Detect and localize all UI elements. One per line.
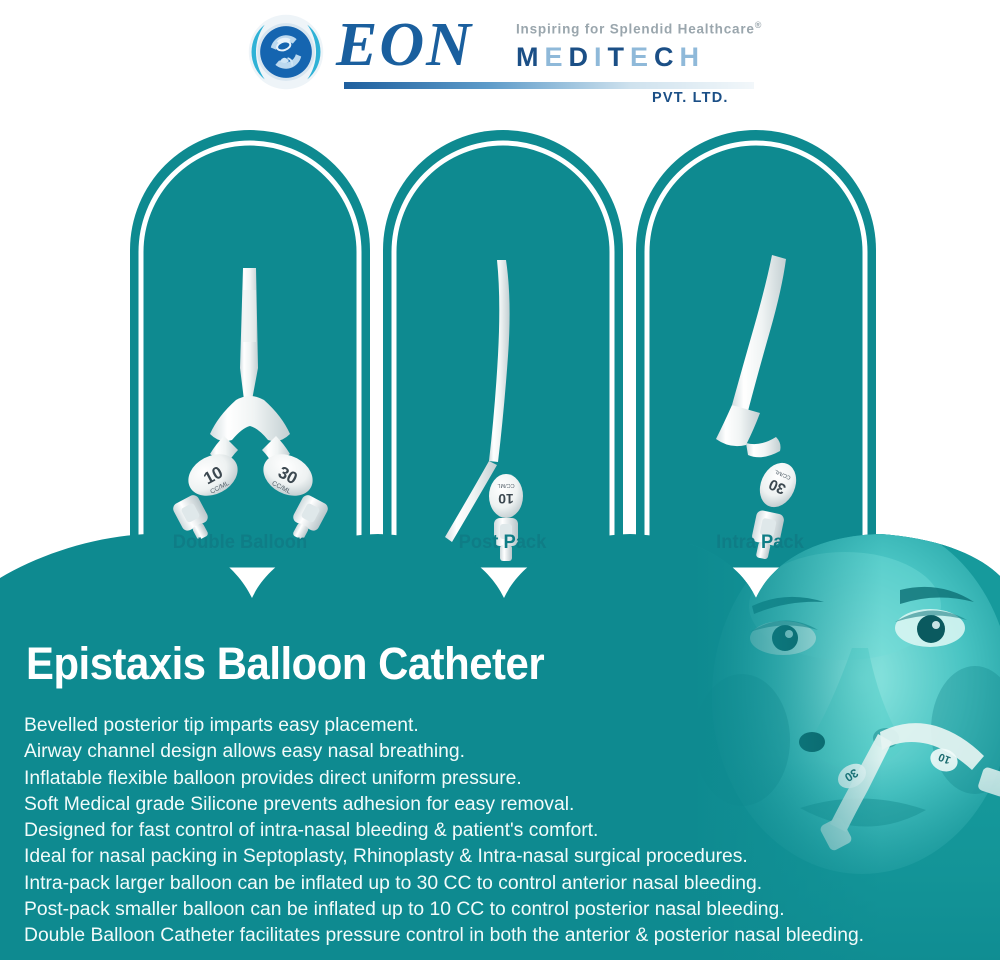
feature-item: Designed for fast control of intra-nasal… (24, 817, 960, 843)
registered-trademark-icon: ® (755, 20, 762, 30)
feature-item: Bevelled posterior tip imparts easy plac… (24, 712, 960, 738)
feature-item: Double Balloon Catheter facilitates pres… (24, 922, 960, 948)
brand-name-text: EON (336, 11, 473, 79)
product-panel-intra-pack: 30 CC/ML (636, 130, 876, 570)
brand-tagline-text: Inspiring for Splendid Healthcare (516, 22, 755, 37)
logo-lockup: EON Inspiring for Splendid Healthcare® M… (248, 6, 768, 102)
feature-list: Bevelled posterior tip imparts easy plac… (24, 712, 974, 949)
feature-item: Intra-pack larger balloon can be inflate… (24, 870, 960, 896)
page-title: Epistaxis Balloon Catheter (26, 638, 544, 690)
svg-text:CC/ML: CC/ML (497, 482, 514, 488)
product-label-double-balloon: Double Balloon (137, 531, 344, 554)
product-label-post-pack: Post Pack (401, 531, 603, 554)
eon-globe-swirl-logo-icon (248, 14, 324, 90)
product-panel-post-pack: 10 CC/ML (383, 130, 623, 570)
company-suffix: PVT. LTD. (652, 90, 729, 106)
brand-tagline: Inspiring for Splendid Healthcare® (516, 20, 762, 37)
product-panel-double-balloon: 10 CC/ML 30 CC/ML (130, 130, 370, 570)
logo-underline-bar (344, 82, 754, 89)
feature-item: Airway channel design allows easy nasal … (24, 738, 960, 764)
company-name: MEDITECH (516, 42, 705, 73)
feature-item: Soft Medical grade Silicone prevents adh… (24, 791, 960, 817)
brand-name: EON (336, 14, 473, 76)
feature-item: Post-pack smaller balloon can be inflate… (24, 896, 960, 922)
product-showcase-panels: 10 CC/ML 30 CC/ML (0, 100, 1000, 570)
svg-text:10: 10 (498, 491, 514, 507)
feature-item: Inflatable flexible balloon provides dir… (24, 765, 960, 791)
brand-header: EON Inspiring for Splendid Healthcare® M… (0, 0, 1000, 104)
product-label-intra-pack: Intra Pack (657, 531, 864, 554)
feature-item: Ideal for nasal packing in Septoplasty, … (24, 843, 960, 869)
advertisement-page: EON Inspiring for Splendid Healthcare® M… (0, 0, 1000, 960)
